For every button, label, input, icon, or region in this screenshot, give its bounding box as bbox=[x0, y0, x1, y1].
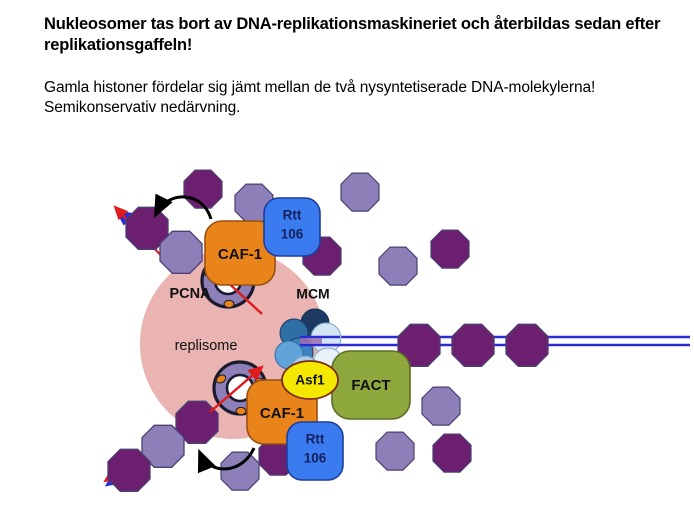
daughter-top-nucleosome-new bbox=[160, 231, 202, 273]
page-title: Nukleosomer tas bort av DNA-replikations… bbox=[44, 14, 664, 56]
caf1-bottom-label: CAF-1 bbox=[260, 405, 304, 422]
rtt106-top-label-line1: Rtt bbox=[283, 208, 302, 223]
page-subtitle: Gamla histoner fördelar sig jämt mellan … bbox=[44, 78, 664, 119]
free-nucleosome-10 bbox=[221, 452, 259, 490]
rtt106-top-label-line2: 106 bbox=[281, 227, 304, 242]
parental-strand-nucleosomes bbox=[398, 324, 548, 366]
rtt106-bottom-label-line2: 106 bbox=[304, 451, 327, 466]
mcm-label: MCM bbox=[296, 286, 329, 302]
free-nucleosome-8 bbox=[376, 432, 414, 470]
parental-dna-duplex bbox=[303, 337, 690, 345]
daughter-bottom-nucleosomes bbox=[108, 401, 218, 491]
rtt106-bottom-label-line1: Rtt bbox=[306, 432, 325, 447]
fact-label: FACT bbox=[351, 377, 390, 394]
pcna-label: PCNA bbox=[169, 286, 211, 302]
caf1-top-label: CAF-1 bbox=[218, 246, 262, 263]
daughter-bottom-nucleosome-old-2 bbox=[108, 449, 150, 491]
free-nucleosome-9 bbox=[433, 434, 471, 472]
asf1-label: Asf1 bbox=[295, 373, 325, 388]
free-nucleosome-5 bbox=[431, 230, 469, 268]
free-nucleosome-6 bbox=[379, 247, 417, 285]
replisome-label: replisome bbox=[175, 338, 238, 354]
parental-nucleosome-2 bbox=[452, 324, 494, 366]
replication-fork-diagram: replisome bbox=[0, 148, 694, 520]
pcna-bottom-dot-3 bbox=[236, 407, 246, 414]
pcna-top-dot-3 bbox=[224, 300, 234, 307]
parental-nucleosome-3 bbox=[506, 324, 548, 366]
free-nucleosome-3 bbox=[341, 173, 379, 211]
daughter-top-nucleosomes bbox=[126, 207, 202, 273]
free-nucleosome-1 bbox=[184, 170, 222, 208]
slide-canvas: Nukleosomer tas bort av DNA-replikations… bbox=[0, 0, 694, 520]
free-nucleosome-7 bbox=[422, 387, 460, 425]
